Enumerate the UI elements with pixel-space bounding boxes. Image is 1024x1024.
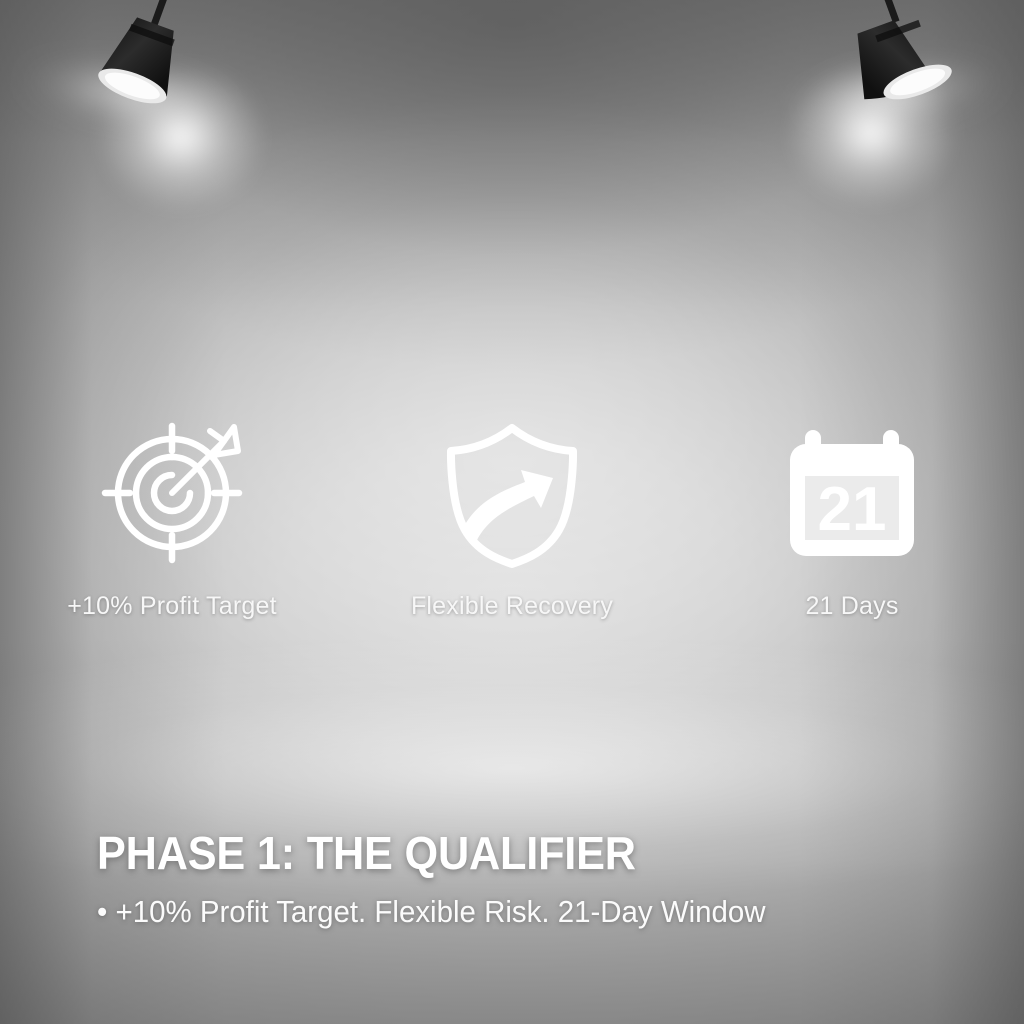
feature-item-flexible-recovery[interactable]: Flexible Recovery [394, 418, 630, 621]
right-spotlight-lamp [828, 0, 958, 115]
feature-label: +10% Profit Target [67, 592, 277, 621]
spotlight-icon [828, 0, 958, 110]
page-title: PHASE 1: THE QUALIFIER [97, 826, 636, 880]
feature-label: Flexible Recovery [411, 592, 613, 621]
feature-icon-row: +10% Profit Target Flexible Recovery [0, 418, 1024, 621]
page-subtitle: • +10% Profit Target. Flexible Risk. 21-… [97, 894, 766, 930]
slide-canvas: +10% Profit Target Flexible Recovery [0, 0, 1024, 1024]
feature-item-21-days[interactable]: 21 21 Days [734, 418, 970, 621]
shield-growth-arrow-icon [437, 418, 587, 568]
feature-label: 21 Days [805, 592, 898, 621]
left-spotlight-lamp [92, 0, 222, 119]
calendar-21-icon: 21 [777, 418, 927, 568]
spotlight-icon [92, 0, 222, 114]
target-arrow-icon [97, 418, 247, 568]
feature-item-profit-target[interactable]: +10% Profit Target [54, 418, 290, 621]
calendar-number: 21 [818, 475, 887, 544]
